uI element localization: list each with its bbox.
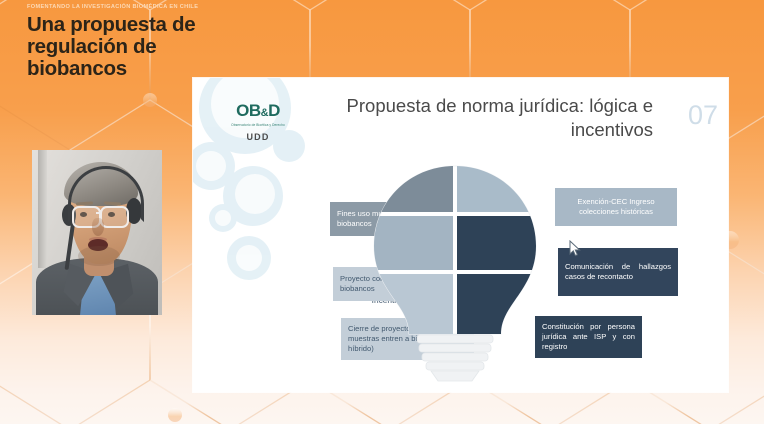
logo-ob: OB: [236, 101, 261, 120]
udd-wordmark: UDD: [215, 132, 301, 142]
logo-wordmark: OB&D: [215, 102, 301, 122]
eyeglasses-lens-right: [100, 206, 129, 228]
eyeglasses-bridge: [96, 212, 102, 214]
logo-d: D: [268, 101, 280, 120]
slide-number: 07: [688, 100, 718, 131]
page-title: Una propuesta de regulación de biobancos: [27, 14, 237, 80]
header-kicker: FOMENTANDO LA INVESTIGACIÓN BIOMÉDICA EN…: [27, 4, 237, 10]
presenter-video-feed[interactable]: [32, 150, 162, 315]
header-block: FOMENTANDO LA INVESTIGACIÓN BIOMÉDICA EN…: [0, 0, 237, 80]
logo-subtitle: Observatorio de Bioética y Derecho: [215, 123, 301, 127]
slide-title: Propuesta de norma jurídica: lógica e in…: [313, 94, 653, 142]
presentation-screen: FOMENTANDO LA INVESTIGACIÓN BIOMÉDICA EN…: [0, 0, 764, 424]
obd-logo: OB&D Observatorio de Bioética y Derecho …: [215, 102, 301, 142]
slide-panel[interactable]: OB&D Observatorio de Bioética y Derecho …: [193, 78, 728, 392]
presenter-nose: [92, 218, 104, 236]
video-wall-edge: [38, 150, 47, 268]
presenter-chin: [78, 246, 120, 266]
bulb-screw-base: [417, 335, 493, 381]
logo-ampersand: &: [261, 107, 268, 119]
mouse-pointer: [569, 240, 581, 258]
